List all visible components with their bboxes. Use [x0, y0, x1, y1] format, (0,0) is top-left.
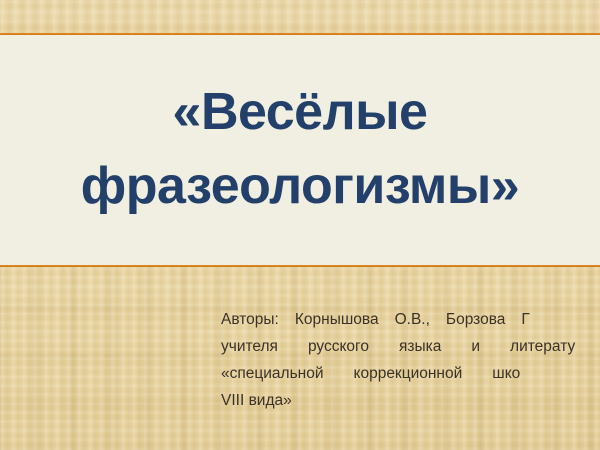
role-word-2: русского	[308, 338, 369, 355]
role-word-4: и	[471, 338, 480, 355]
school-word-3: шко	[492, 365, 520, 382]
role-word-1: учителя	[221, 338, 278, 355]
role-word-3: языка	[399, 338, 441, 355]
school-word-2: коррекционной	[354, 365, 463, 382]
authors-text-block: Авторы:КорнышоваО.В.,БорзоваГ учителярус…	[221, 306, 600, 414]
slide-title-line-2: фразеологизмы»	[81, 150, 519, 224]
school-type: VIII вида»	[221, 392, 292, 409]
author-1-surname: Корнышова	[295, 311, 379, 328]
role-word-5: литерату	[510, 338, 575, 355]
authors-line-2: учителярусскогоязыкаилитерату	[221, 333, 600, 360]
author-2-surname: Борзова	[446, 311, 505, 328]
title-panel: «Весёлые фразеологизмы»	[0, 35, 600, 265]
authors-line-3: «специальнойкоррекционнойшко	[221, 360, 600, 387]
authors-line-4: VIII вида»	[221, 387, 600, 414]
presentation-slide: «Весёлые фразеологизмы» Авторы:Корнышова…	[0, 0, 600, 450]
authors-line-1: Авторы:КорнышоваО.В.,БорзоваГ	[221, 306, 600, 333]
top-texture-band	[0, 0, 600, 33]
author-1-initials: О.В.,	[395, 311, 430, 328]
author-2-initials: Г	[521, 311, 529, 328]
authors-label: Авторы:	[221, 311, 279, 328]
slide-title-line-1: «Весёлые	[173, 76, 428, 150]
school-word-1: «специальной	[221, 365, 324, 382]
bottom-divider-rule	[0, 265, 600, 267]
